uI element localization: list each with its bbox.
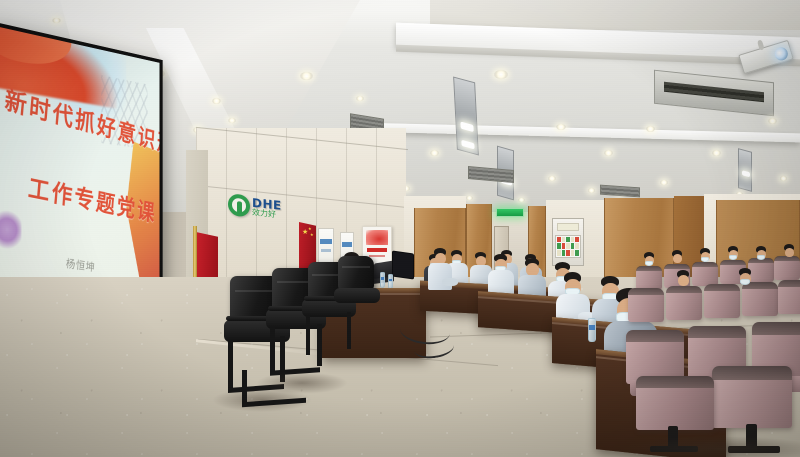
face-mask [729,255,737,260]
auditorium-seat[interactable] [628,288,664,328]
poster-graphic [366,230,388,244]
logo-ring-icon [228,193,250,217]
downlight [712,150,721,156]
attendee [780,244,798,264]
slide-speaker-name: 杨恒坤 [65,256,96,276]
downlight [212,98,221,104]
downlight [430,150,439,156]
control-panel-indicators [555,235,580,258]
chair-seat [334,288,380,303]
logo-brand-chinese: 效力好 [252,209,282,220]
downlight [228,118,236,123]
seat-shadow [620,436,800,457]
attendee-head [678,275,689,286]
attendee [696,248,714,268]
auditorium-seat[interactable] [778,280,800,320]
black-chair[interactable] [232,290,314,410]
water-bottle [588,318,596,342]
banner-band [321,249,332,252]
attendee-head [673,254,682,263]
downlight [548,176,556,181]
face-mask [645,261,653,266]
podium-monitor [392,250,414,279]
attendee-head [785,248,794,257]
chair-leg [242,370,247,404]
attendee [752,246,770,266]
exit-sign-icon [496,208,524,217]
flag-star-icon: ★ [310,231,314,238]
face-mask [740,279,750,285]
ceiling-light-trough-1 [453,76,479,155]
banner-band [342,242,353,246]
attendee [640,252,658,272]
downlight [52,18,61,23]
downlight [768,118,777,124]
downlight [556,124,566,130]
downlight [494,70,508,79]
chair-leg-rail [242,398,306,407]
attendee [668,250,686,270]
wall-control-panel[interactable] [552,218,584,266]
black-chair[interactable] [332,256,390,350]
attendee [724,246,742,266]
control-panel-label [557,223,579,231]
seat-back [636,376,714,430]
downlight [300,72,313,80]
downlight [660,180,668,185]
face-mask [701,257,709,262]
slide-flower-art [0,207,21,253]
downlight [780,176,787,181]
face-mask [757,255,765,260]
projector-lens [773,46,789,62]
chair-back [338,256,374,290]
downlight [356,96,364,101]
seat-back [712,366,792,428]
banner-band [320,239,332,244]
attendee [672,270,694,296]
ceiling-light-trough-3 [738,148,752,192]
seat-back [778,280,800,314]
downlight [518,198,525,202]
seat-back [628,288,664,322]
downlight [604,150,613,156]
attendee-arm [442,278,458,286]
attendee [432,256,452,290]
attendee [734,268,756,294]
downlight [588,188,595,193]
conference-hall-photo: DHE 效力好 [0,0,800,457]
downlight [466,196,473,200]
downlight [646,126,655,132]
